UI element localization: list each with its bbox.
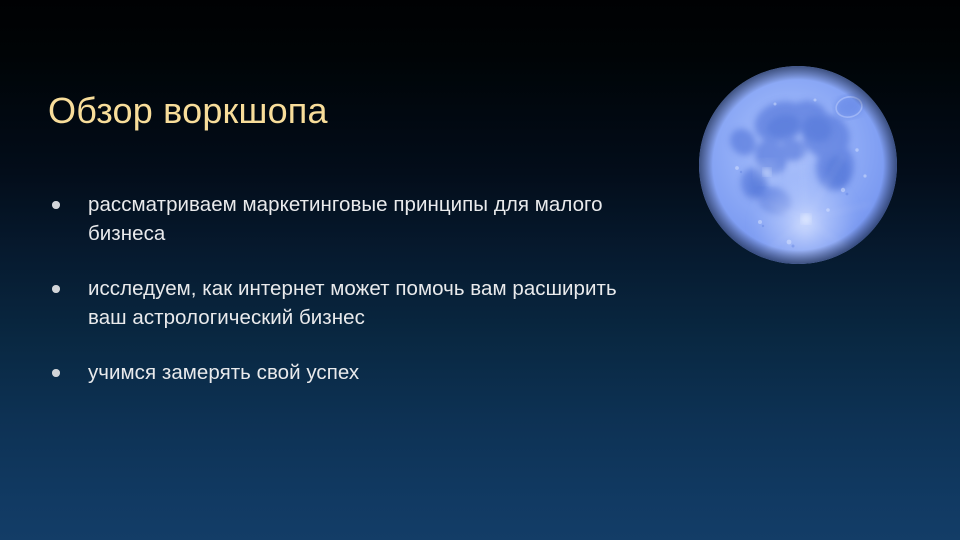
list-item-label: учимся замерять свой успех: [88, 358, 628, 387]
list-item-label: исследуем, как интернет может помочь вам…: [88, 274, 628, 332]
bullet-dot-icon: [52, 285, 60, 293]
bullet-dot-icon: [52, 201, 60, 209]
list-item: исследуем, как интернет может помочь вам…: [48, 274, 628, 332]
list-item: рассматриваем маркетинговые принципы для…: [48, 190, 628, 248]
page-title: Обзор воркшопа: [48, 88, 328, 134]
slide-canvas: Обзор воркшопа рассматриваем маркетингов…: [0, 0, 960, 540]
full-moon-icon: [697, 64, 899, 266]
list-item-label: рассматриваем маркетинговые принципы для…: [88, 190, 628, 248]
moon-image: [697, 64, 899, 266]
bullet-dot-icon: [52, 369, 60, 377]
list-item: учимся замерять свой успех: [48, 358, 628, 387]
bullet-list: рассматриваем маркетинговые принципы для…: [48, 190, 628, 387]
